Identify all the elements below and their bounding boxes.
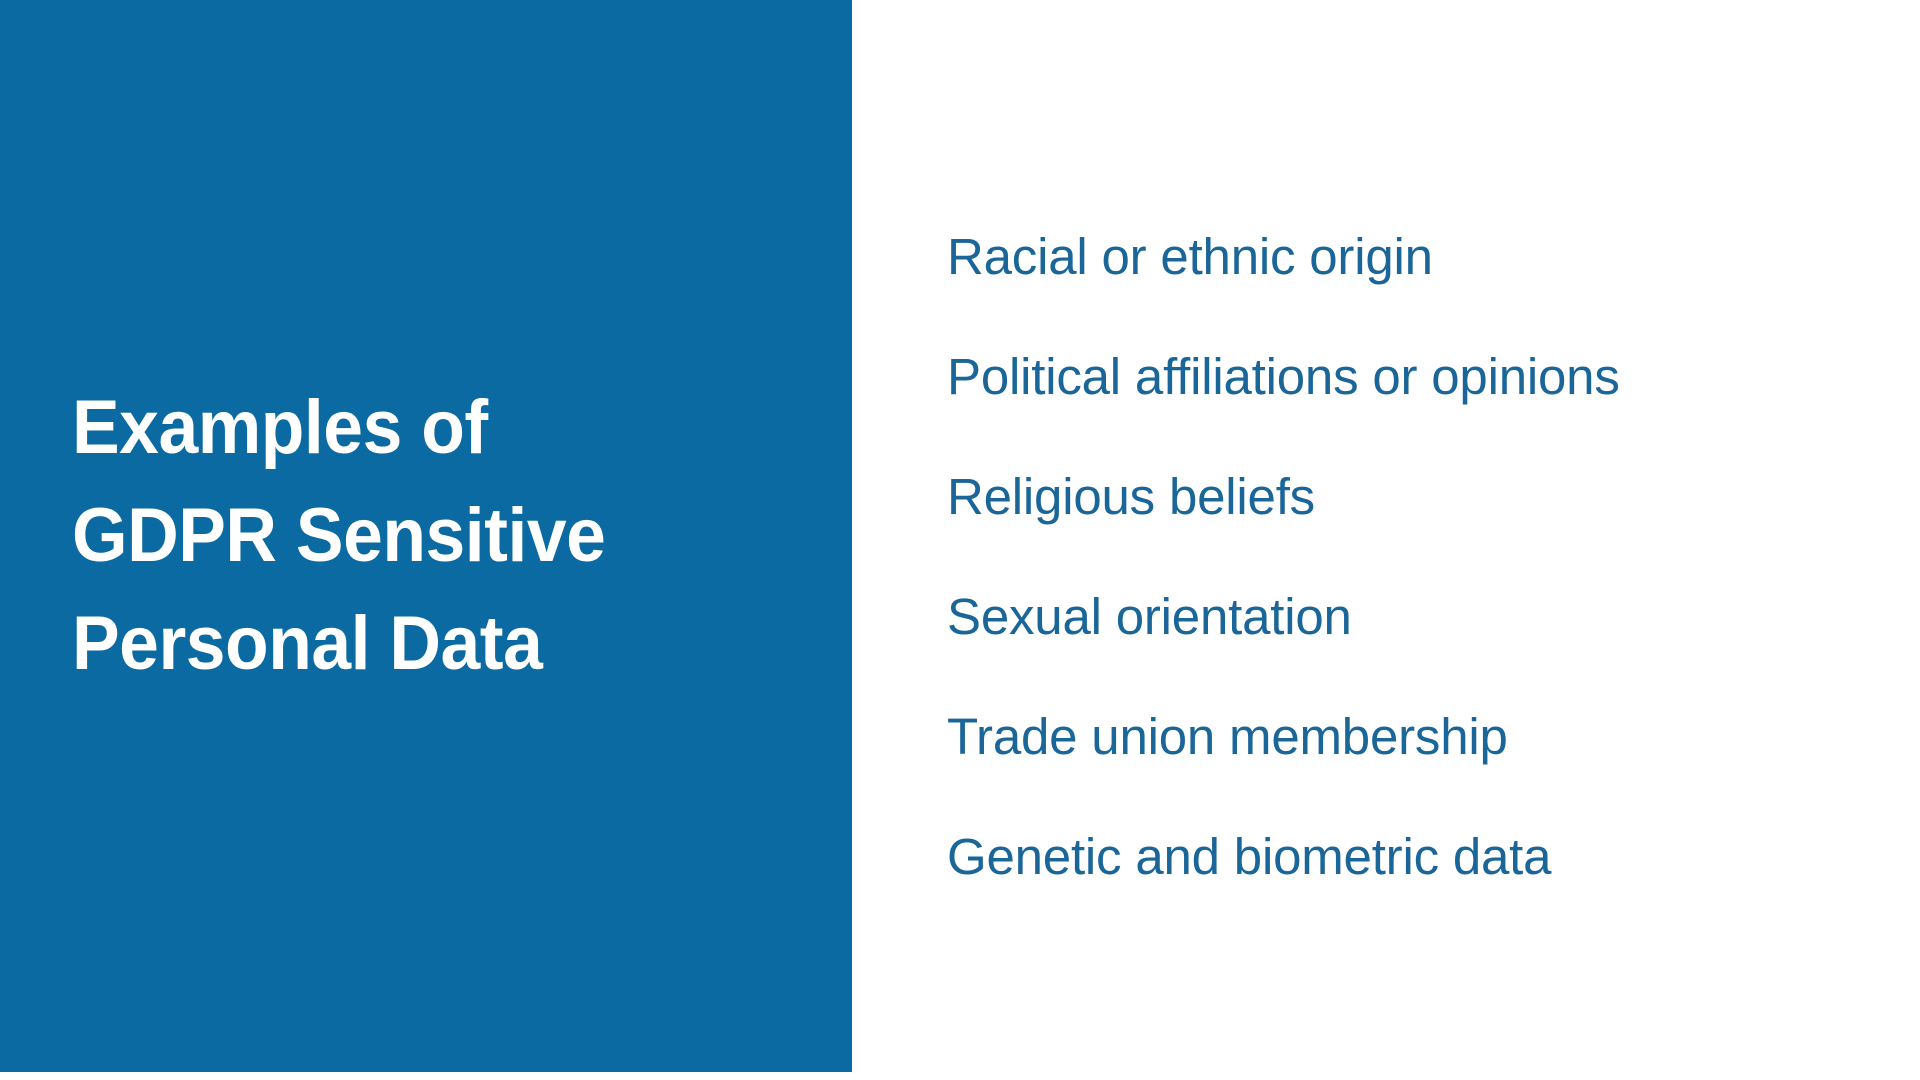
- list-item: Genetic and biometric data: [947, 796, 1887, 916]
- list-item: Racial or ethnic origin: [947, 196, 1887, 316]
- list-item: Religious beliefs: [947, 436, 1887, 556]
- title-line-1: Examples of: [72, 374, 488, 482]
- list-item: Trade union membership: [947, 676, 1887, 796]
- list-item: Sexual orientation: [947, 556, 1887, 676]
- title-line-3: Personal Data: [72, 590, 542, 698]
- sensitive-data-list: Racial or ethnic origin Political affili…: [947, 196, 1887, 916]
- title-panel: Examples of GDPR Sensitive Personal Data: [0, 0, 852, 1072]
- content-panel: Racial or ethnic origin Political affili…: [852, 0, 1920, 1080]
- slide-canvas: Examples of GDPR Sensitive Personal Data…: [0, 0, 1920, 1080]
- list-item: Political affiliations or opinions: [947, 316, 1887, 436]
- slide-title: Examples of GDPR Sensitive Personal Data: [72, 0, 832, 1072]
- title-line-2: GDPR Sensitive: [72, 482, 605, 590]
